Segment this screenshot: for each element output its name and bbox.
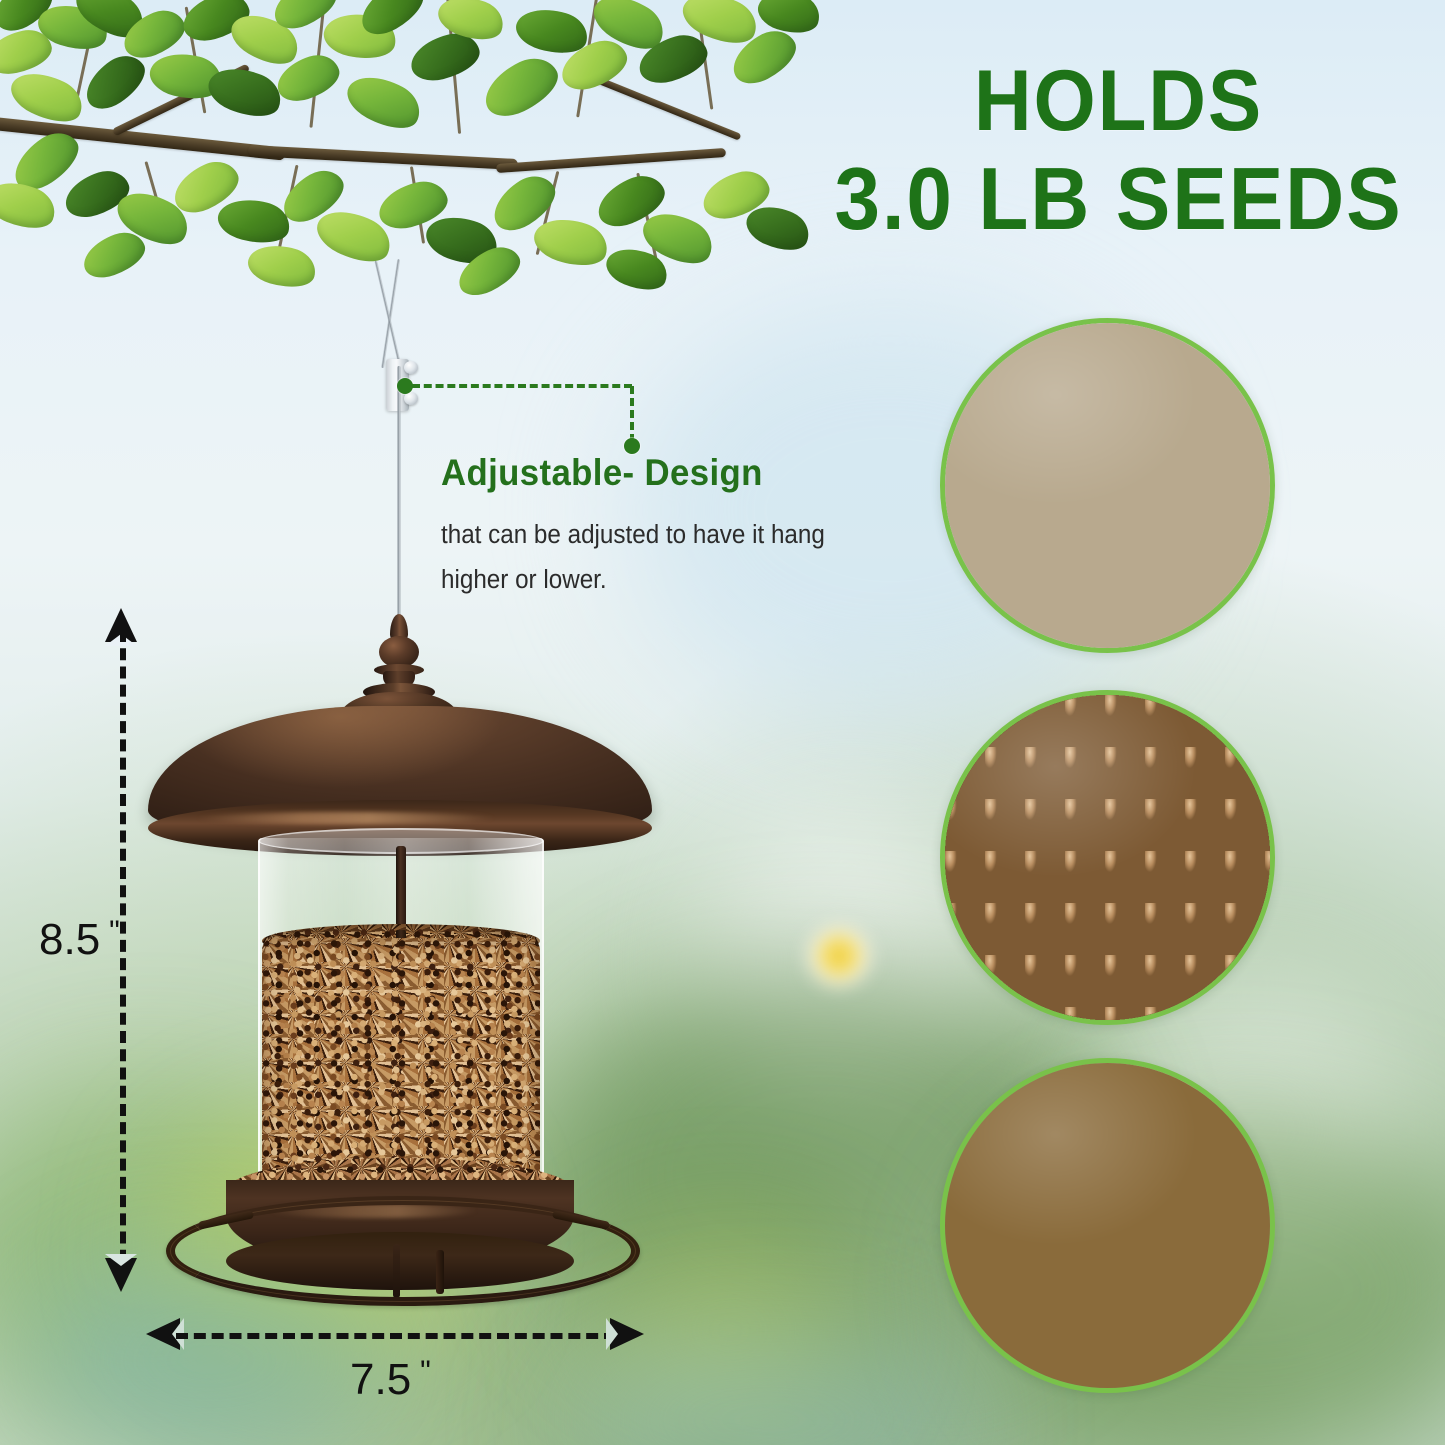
height-value: 8.5: [39, 915, 100, 964]
height-unit: ": [109, 915, 120, 948]
infographic-canvas: HOLDS 3.0 LB SEEDS: [0, 0, 1445, 1445]
seed-circle-wheat-grains: [940, 690, 1275, 1025]
daisy-flower-icon: [806, 925, 872, 987]
width-arrow-left: [146, 1318, 180, 1350]
height-arrow-bottom: [105, 1258, 137, 1292]
height-dimension-label: 8.5": [39, 915, 120, 965]
roof-rim-highlight: [196, 812, 496, 824]
callout-leader-vertical: [630, 386, 634, 442]
hanging-wire-right: [374, 260, 402, 368]
wheat-grain-texture: [945, 695, 1270, 1020]
perch-leg-center: [436, 1250, 444, 1294]
seed-circle-coriander-seeds: [940, 318, 1275, 653]
callout-description: that can be adjusted to have it hang hig…: [441, 513, 850, 602]
width-arrow-right: [610, 1318, 644, 1350]
headline-line-1: HOLDS: [828, 58, 1409, 146]
callout-title: Adjustable- Design: [441, 452, 836, 494]
width-dimension-line: [176, 1333, 616, 1339]
callout-text-block: Adjustable- Design that can be adjusted …: [441, 452, 861, 602]
width-dimension-label: 7.5": [350, 1355, 431, 1405]
headline-line-2: 3.0 LB SEEDS: [828, 154, 1409, 244]
headline-block: HOLDS 3.0 LB SEEDS: [806, 58, 1431, 243]
seed-circle-mixed-nuts: [940, 1058, 1275, 1393]
clamp-screw-top-icon: [404, 361, 418, 374]
clamp-screw-bottom-icon: [404, 392, 418, 405]
callout-start-dot: [397, 378, 413, 394]
width-unit: ": [420, 1355, 431, 1388]
bird-feeder-product-image: [0, 0, 760, 1445]
mixed-nut-texture: [945, 1063, 1270, 1388]
callout-leader-horizontal: [412, 384, 632, 388]
coriander-seed-texture: [945, 323, 1270, 648]
width-value: 7.5: [350, 1355, 411, 1404]
height-dimension-line: [120, 630, 126, 1280]
hanging-wire-main: [397, 366, 401, 628]
